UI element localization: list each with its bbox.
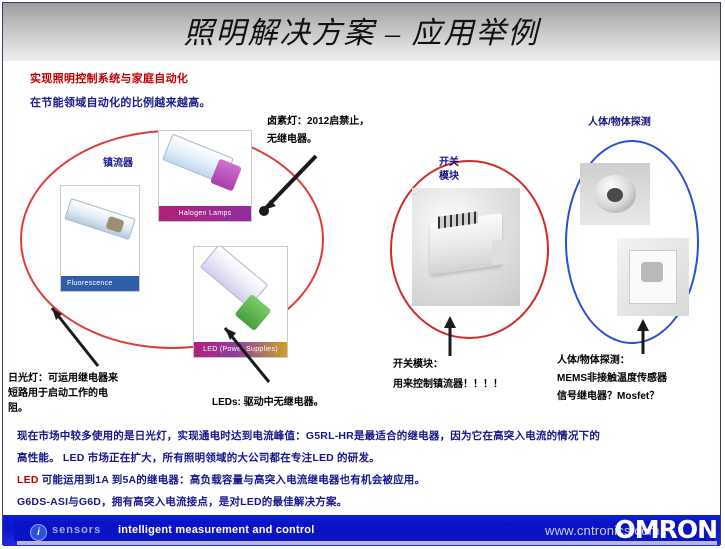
- presentation-slide: 照明解决方案 – 应用举例 实现照明控制系统与家庭自动化 在节能领域自动化的比例…: [0, 0, 725, 549]
- arrow-fluorescent: [40, 300, 110, 375]
- footer-brand-word: sensors: [52, 524, 101, 536]
- page-title: 照明解决方案 – 应用举例: [3, 8, 720, 52]
- photo-halogen-driver: Halogen Lamps: [158, 130, 252, 222]
- arrow-sensor: [625, 316, 661, 356]
- label-led-note: LEDs: 驱动中无继电器。: [212, 394, 324, 411]
- halogen-caption: Halogen Lamps: [159, 206, 251, 221]
- label-sensor-note-line1: 人体/物体探测：: [557, 352, 630, 369]
- body-line-3-rest: 可能运用到1A 到5A的继电器：高负载容量与高突入电流继电器也有机会被应用。: [39, 474, 426, 486]
- body-line-1: 现在市场中较多使用的是日光灯，实现通电时达到电流峰值：G5RL-HR是最适合的继…: [17, 428, 600, 443]
- label-halogen-note-line2: 无继电器。: [267, 131, 317, 148]
- omron-logo: OMRON: [614, 515, 717, 544]
- wall-panel-lens: [641, 262, 663, 282]
- headline-red: 实现照明控制系统与家庭自动化: [30, 70, 188, 86]
- headline-blue: 在节能领域自动化的比例越来越高。: [30, 94, 211, 110]
- photo-fluorescent-ballast: Fluorescence: [60, 185, 140, 292]
- label-human-detection-title: 人体/物体探测: [588, 114, 651, 131]
- body-line-3: LED 可能运用到1A 到5A的继电器：高负载容量与高突入电流继电器也有机会被应…: [17, 472, 425, 487]
- label-switch-module-title-line2: 模块: [424, 168, 474, 185]
- label-sensor-note-line2: MEMS非接触温度传感器: [557, 370, 667, 387]
- pir-lens: [607, 188, 623, 202]
- label-switch-note-line1: 开关模块：: [393, 356, 443, 373]
- footer-shadow: [17, 541, 717, 545]
- body-line-3-prefix: LED: [17, 474, 39, 486]
- label-switch-note-line2: 用来控制镇流器！！！！: [393, 376, 503, 393]
- title-banner: 照明解决方案 – 应用举例: [3, 3, 720, 61]
- fluorescent-caption: Fluorescence: [61, 276, 139, 291]
- body-line-4: G6DS-ASI与G6D，拥有高突入电流接点，是对LED的最佳解决方案。: [17, 494, 347, 509]
- info-icon: i: [30, 524, 47, 541]
- arrow-led: [215, 320, 283, 390]
- label-halogen-note-line1: 卤素灯：2012启禁止，: [267, 113, 369, 130]
- photo-ceiling-pir-sensor: [580, 163, 650, 225]
- photo-switch-module: [412, 188, 520, 306]
- arrow-halogen: [250, 150, 322, 230]
- switch-module-mounting-tab: [492, 239, 508, 265]
- label-fluorescent-note-line3: 阻。: [8, 400, 28, 417]
- body-line-2: 高性能。 LED 市场正在扩大，所有照明领域的大公司都在专注LED 的研发。: [17, 450, 380, 465]
- arrow-switch-module: [430, 312, 470, 358]
- photo-wall-sensor-panel: [617, 238, 689, 316]
- label-sensor-note-line3: 信号继电器？Mosfet？: [557, 388, 659, 405]
- label-ballast: 镇流器: [103, 155, 133, 172]
- footer-tagline: intelligent measurement and control: [118, 524, 314, 536]
- fluorescent-ballast-body: [64, 198, 135, 240]
